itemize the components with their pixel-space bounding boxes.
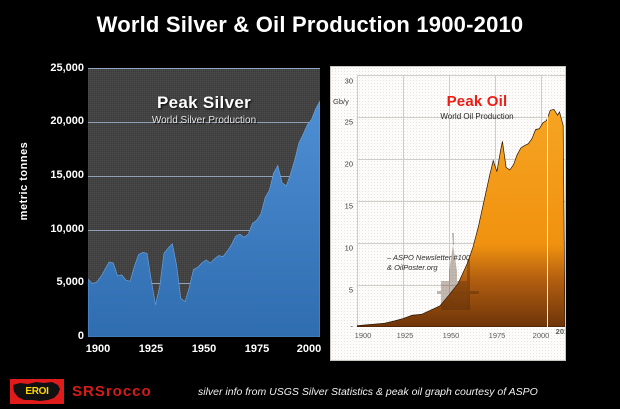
oil-xtick-1925: 1925	[397, 331, 414, 340]
oil-ytick-30: 30	[345, 77, 353, 86]
oil-ytick-25: 25	[345, 118, 353, 127]
silver-chart: metric tonnes 25,000 20,000 15,000 10,00…	[0, 55, 330, 375]
oil-xtick-2000: 2000	[533, 331, 550, 340]
poster-root: World Silver & Oil Production 1900-2010 …	[0, 0, 620, 409]
oil-chart: 30 25 20 15 10 5 - Gb/y	[330, 66, 566, 361]
oil-plot-area: Peak Oil World Oil Production	[357, 75, 565, 327]
oil-xtick-1975: 1975	[489, 331, 506, 340]
oil-x-axis-ticks: 1900 1925 1950 1975 2000 2010	[357, 331, 565, 347]
silver-xtick-2000: 2000	[297, 343, 321, 355]
silver-y-axis-ticks: 25,000 20,000 15,000 10,000 5,000 0	[20, 55, 84, 335]
silver-x-axis-ticks: 1900 1925 1950 1975 2000	[88, 343, 320, 363]
silver-ytick-5000: 5,000	[56, 276, 84, 288]
oil-ytick-20: 20	[345, 160, 353, 169]
silver-area-series	[88, 69, 320, 337]
silver-xtick-1925: 1925	[139, 343, 163, 355]
oil-ytick-5: 5	[349, 286, 353, 295]
silver-ytick-20000: 20,000	[50, 115, 84, 127]
srsrocco-brand[interactable]: SRSrocco	[72, 383, 152, 400]
silver-ytick-25000: 25,000	[50, 62, 84, 74]
silver-ytick-10000: 10,000	[50, 223, 84, 235]
eroi-logo-text: EROI	[10, 379, 64, 404]
oil-y-axis-ticks: 30 25 20 15 10 5 -	[333, 73, 355, 323]
silver-xtick-1900: 1900	[86, 343, 110, 355]
oil-y-axis-unit-label: Gb/y	[333, 97, 349, 106]
oil-xtick-1900: 1900	[355, 331, 372, 340]
silver-ytick-15000: 15,000	[50, 169, 84, 181]
eroi-logo[interactable]: EROI	[10, 379, 64, 404]
oil-xtick-1950: 1950	[443, 331, 460, 340]
silver-plot-area: Peak Silver World Silver Production	[88, 68, 320, 337]
source-credit: silver info from USGS Silver Statistics …	[198, 386, 538, 398]
silver-ytick-0: 0	[78, 330, 84, 342]
silver-xtick-1975: 1975	[245, 343, 269, 355]
silver-xtick-1950: 1950	[192, 343, 216, 355]
oil-marker-year-2010: 2010	[556, 327, 566, 336]
oil-current-year-marker-line	[547, 75, 548, 327]
oil-ytick-10: 10	[345, 244, 353, 253]
oil-rig-icon	[437, 225, 479, 310]
page-title: World Silver & Oil Production 1900-2010	[0, 12, 620, 38]
oil-ytick-15: 15	[345, 202, 353, 211]
oil-ytick-0: -	[351, 322, 354, 331]
